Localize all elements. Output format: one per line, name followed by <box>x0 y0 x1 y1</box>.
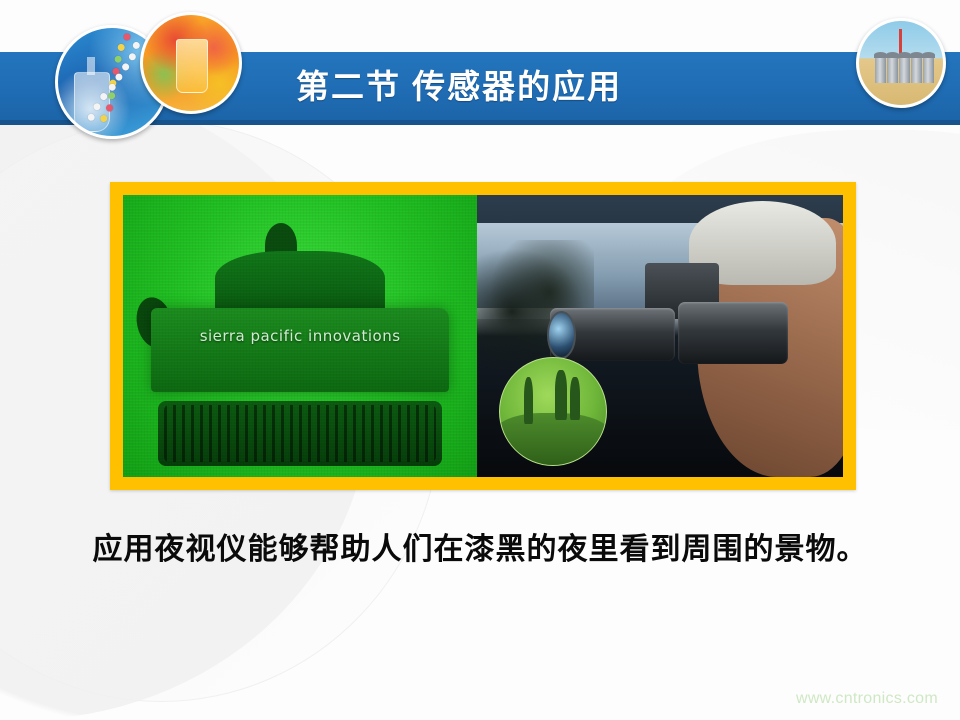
goggle-tube-right-shape <box>678 302 788 364</box>
silo-icon <box>887 57 898 83</box>
grain-silo-badge <box>856 18 946 108</box>
goggle-lens-icon <box>547 311 576 359</box>
silo-icon <box>911 57 922 83</box>
slide-title: 第二节 传感器的应用 <box>296 63 622 111</box>
night-vision-tank-photo: sierra pacific innovations <box>123 195 477 477</box>
footer-watermark: www.cntronics.com <box>796 690 938 708</box>
inset-terrain-shape <box>499 413 607 464</box>
juice-glass-icon <box>176 39 208 93</box>
silo-icon <box>923 57 934 83</box>
night-vision-inset-circle <box>499 357 607 466</box>
silo-icon <box>875 57 886 83</box>
photo-inner: sierra pacific innovations <box>123 195 843 477</box>
photo-frame: sierra pacific innovations <box>110 182 856 490</box>
silo-icon <box>899 57 910 83</box>
inset-soldier-figure <box>555 370 567 419</box>
inset-soldier-figure <box>524 377 534 424</box>
slide-caption: 应用夜视仪能够帮助人们在漆黑的夜里看到周围的景物。 <box>0 528 960 572</box>
food-nutrition-badge <box>140 12 242 114</box>
photo-watermark-text: sierra pacific innovations <box>123 327 477 345</box>
presentation-slide: 第二节 传感器的应用 <box>0 0 960 720</box>
soldier-night-vision-goggles-photo <box>477 195 843 477</box>
inset-soldier-figure <box>570 377 580 420</box>
